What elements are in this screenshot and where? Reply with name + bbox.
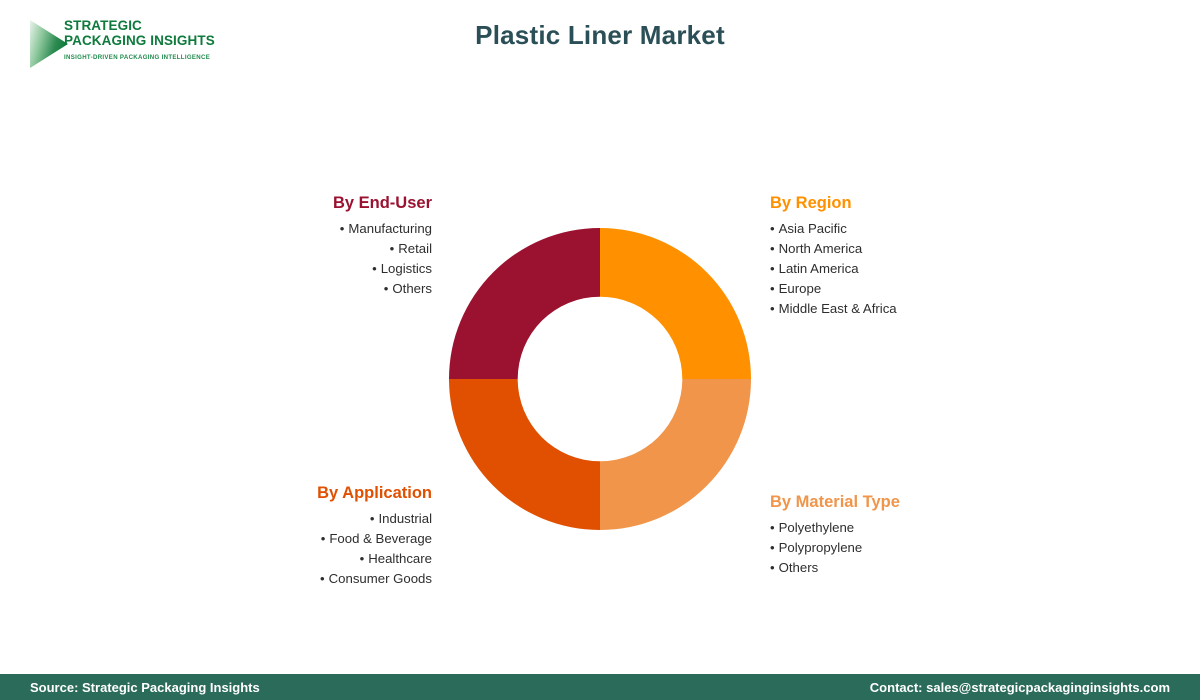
list-item: •Manufacturing (220, 219, 432, 239)
logo-tagline: INSIGHT-DRIVEN PACKAGING INTELLIGENCE (64, 54, 214, 61)
footer-bar: Source: Strategic Packaging Insights Con… (0, 674, 1200, 700)
segment-list-application: •Industrial •Food & Beverage •Healthcare… (200, 509, 432, 589)
segment-list-material-type: •Polyethylene •Polypropylene •Others (770, 518, 1030, 578)
bullet-icon: • (384, 281, 389, 296)
segment-block-application: By Application •Industrial •Food & Bever… (200, 483, 432, 589)
list-item: •Retail (220, 239, 432, 259)
list-item: •Industrial (200, 509, 432, 529)
bullet-icon: • (770, 560, 775, 575)
donut-slice-end-user (449, 228, 600, 379)
segment-heading-region: By Region (770, 193, 1030, 213)
segment-heading-application: By Application (200, 483, 432, 503)
list-item-label: Consumer Goods (329, 571, 432, 586)
segment-heading-end-user: By End-User (220, 193, 432, 213)
list-item-label: Polypropylene (779, 540, 863, 555)
bullet-icon: • (770, 301, 775, 316)
segment-block-end-user: By End-User •Manufacturing •Retail •Logi… (220, 193, 432, 299)
segment-heading-material-type: By Material Type (770, 492, 1030, 512)
bullet-icon: • (320, 571, 325, 586)
list-item: •Polypropylene (770, 538, 1030, 558)
list-item: •Consumer Goods (200, 569, 432, 589)
segment-list-region: •Asia Pacific •North America •Latin Amer… (770, 219, 1030, 319)
list-item: •Middle East & Africa (770, 299, 1030, 319)
list-item: •Logistics (220, 259, 432, 279)
bullet-icon: • (770, 520, 775, 535)
market-segmentation-infographic: STRATEGIC PACKAGING INSIGHTS INSIGHT-DRI… (0, 0, 1200, 700)
bullet-icon: • (372, 261, 377, 276)
list-item-label: Europe (779, 281, 822, 296)
bullet-icon: • (360, 551, 365, 566)
list-item: •Others (220, 279, 432, 299)
bullet-icon: • (770, 261, 775, 276)
donut-slice-application (449, 379, 600, 530)
list-item-label: Logistics (381, 261, 432, 276)
list-item: •Food & Beverage (200, 529, 432, 549)
list-item: •Asia Pacific (770, 219, 1030, 239)
list-item-label: Latin America (779, 261, 859, 276)
list-item: •Polyethylene (770, 518, 1030, 538)
donut-slice-region (600, 228, 751, 379)
bullet-icon: • (770, 241, 775, 256)
footer-source: Source: Strategic Packaging Insights (30, 680, 260, 695)
list-item-label: Others (392, 281, 432, 296)
list-item-label: Middle East & Africa (779, 301, 897, 316)
bullet-icon: • (321, 531, 326, 546)
donut-slice-material-type (600, 379, 751, 530)
list-item: •Europe (770, 279, 1030, 299)
segment-list-end-user: •Manufacturing •Retail •Logistics •Other… (220, 219, 432, 299)
bullet-icon: • (770, 221, 775, 236)
list-item: •Latin America (770, 259, 1030, 279)
list-item-label: Manufacturing (348, 221, 432, 236)
segment-block-material-type: By Material Type •Polyethylene •Polyprop… (770, 492, 1030, 578)
list-item: •Healthcare (200, 549, 432, 569)
list-item-label: Others (779, 560, 819, 575)
donut-chart (449, 228, 751, 530)
list-item-label: Retail (398, 241, 432, 256)
list-item-label: Food & Beverage (329, 531, 432, 546)
list-item: •Others (770, 558, 1030, 578)
list-item-label: Healthcare (368, 551, 432, 566)
bullet-icon: • (370, 511, 375, 526)
list-item-label: Industrial (378, 511, 432, 526)
bullet-icon: • (770, 540, 775, 555)
segment-block-region: By Region •Asia Pacific •North America •… (770, 193, 1030, 319)
page-title: Plastic Liner Market (0, 20, 1200, 51)
bullet-icon: • (340, 221, 345, 236)
list-item-label: North America (779, 241, 863, 256)
list-item-label: Asia Pacific (779, 221, 847, 236)
bullet-icon: • (390, 241, 395, 256)
list-item-label: Polyethylene (779, 520, 855, 535)
list-item: •North America (770, 239, 1030, 259)
bullet-icon: • (770, 281, 775, 296)
footer-contact: Contact: sales@strategicpackaginginsight… (870, 680, 1170, 695)
